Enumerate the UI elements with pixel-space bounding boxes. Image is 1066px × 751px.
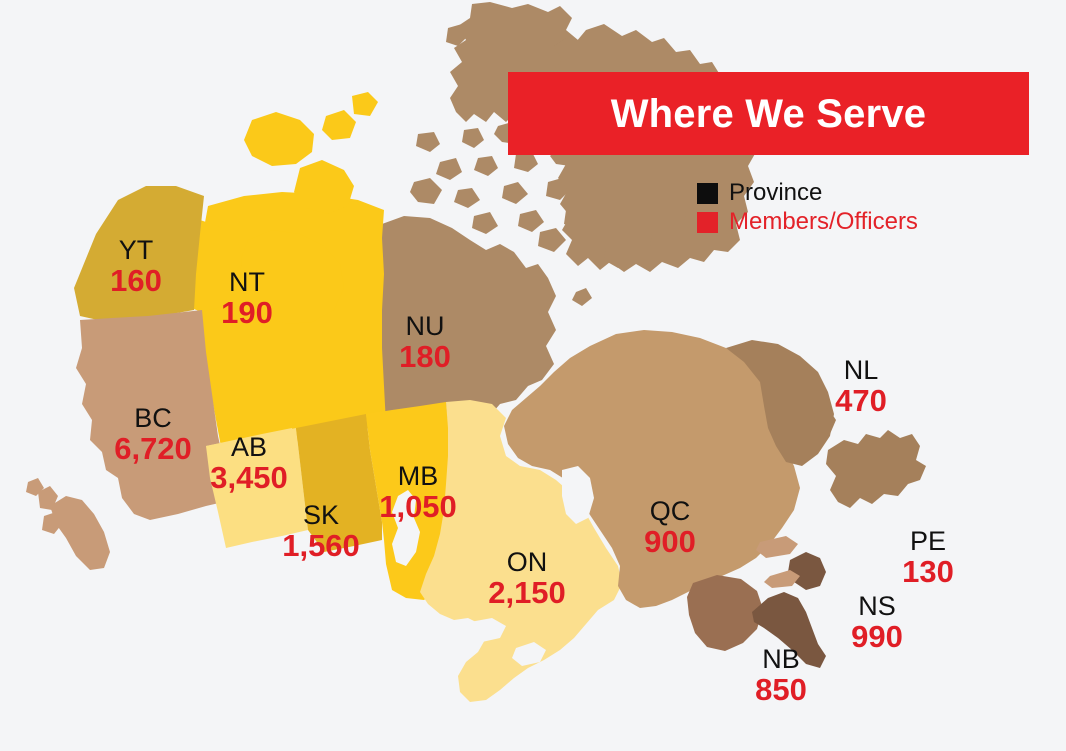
legend-item-members: Members/Officers (697, 210, 918, 234)
province-code-bc: BC (114, 404, 192, 432)
legend: Province Members/Officers (697, 181, 918, 234)
province-value-yt: 160 (110, 265, 162, 298)
province-code-nb: NB (755, 645, 807, 673)
map-label-nl: NL 470 (835, 356, 887, 418)
legend-item-province: Province (697, 181, 918, 205)
province-code-nl: NL (835, 356, 887, 384)
legend-swatch-members (697, 212, 718, 233)
map-label-bc: BC 6,720 (114, 404, 192, 466)
province-value-ab: 3,450 (210, 462, 288, 495)
province-code-nu: NU (399, 312, 451, 340)
province-value-qc: 900 (644, 526, 696, 559)
map-label-nt: NT 190 (221, 268, 273, 330)
province-code-ab: AB (210, 433, 288, 461)
province-value-pe: 130 (902, 556, 954, 589)
province-value-on: 2,150 (488, 577, 566, 610)
title-banner: Where We Serve (508, 72, 1029, 155)
map-label-nb: NB 850 (755, 645, 807, 707)
map-label-mb: MB 1,050 (379, 462, 457, 524)
map-label-ab: AB 3,450 (210, 433, 288, 495)
province-value-nu: 180 (399, 341, 451, 374)
legend-label-province: Province (729, 181, 822, 205)
map-label-ns: NS 990 (851, 592, 903, 654)
page-title: Where We Serve (611, 94, 927, 134)
province-code-nt: NT (221, 268, 273, 296)
province-code-sk: SK (282, 501, 360, 529)
province-value-nl: 470 (835, 385, 887, 418)
province-code-yt: YT (110, 236, 162, 264)
province-value-ns: 990 (851, 621, 903, 654)
map-label-sk: SK 1,560 (282, 501, 360, 563)
region-shape-nb (687, 575, 763, 651)
map-label-qc: QC 900 (644, 497, 696, 559)
province-value-mb: 1,050 (379, 491, 457, 524)
legend-swatch-province (697, 183, 718, 204)
map-label-nu: NU 180 (399, 312, 451, 374)
province-code-qc: QC (644, 497, 696, 525)
province-value-bc: 6,720 (114, 433, 192, 466)
province-code-ns: NS (851, 592, 903, 620)
map-label-on: ON 2,150 (488, 548, 566, 610)
legend-label-members: Members/Officers (729, 210, 918, 234)
province-value-nb: 850 (755, 674, 807, 707)
province-code-pe: PE (902, 527, 954, 555)
province-value-sk: 1,560 (282, 530, 360, 563)
map-infographic: Where We Serve Province Members/Officers… (0, 0, 1066, 751)
province-value-nt: 190 (221, 297, 273, 330)
map-label-pe: PE 130 (902, 527, 954, 589)
province-code-mb: MB (379, 462, 457, 490)
map-label-yt: YT 160 (110, 236, 162, 298)
province-code-on: ON (488, 548, 566, 576)
